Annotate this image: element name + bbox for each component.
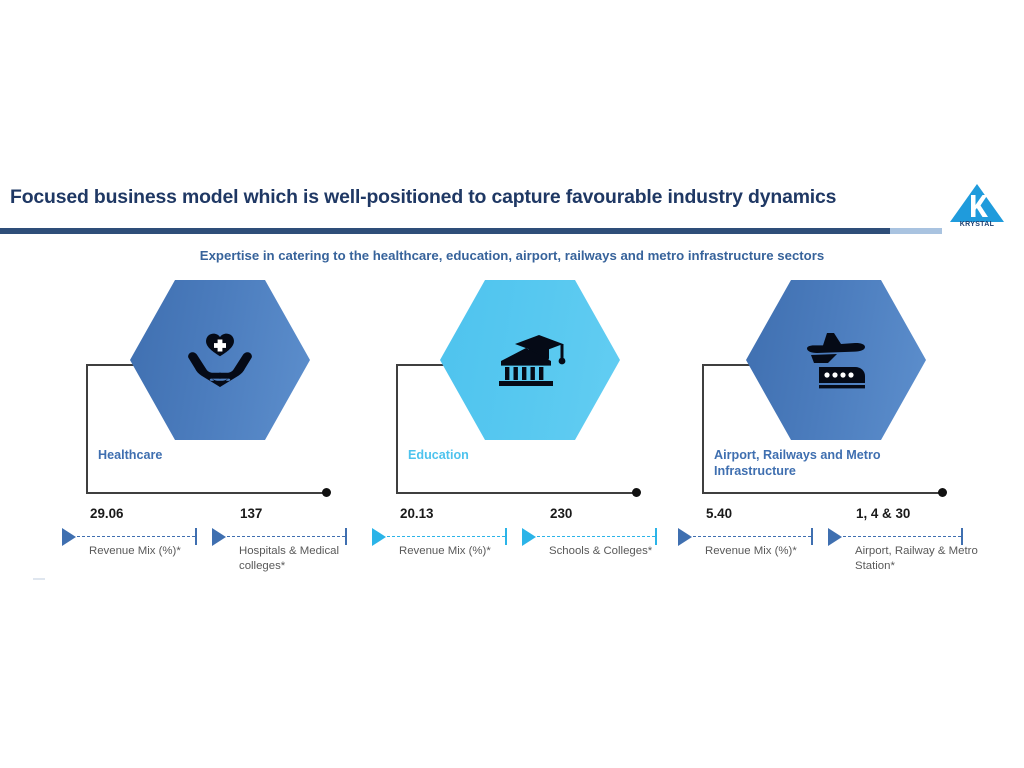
metric-end-tick	[195, 528, 197, 545]
slide-subtitle: Expertise in catering to the healthcare,…	[0, 248, 1024, 263]
metric-item: 137 Hospitals & Medical colleges*	[212, 506, 358, 596]
metric-item: 1, 4 & 30 Airport, Railway & Metro Stati…	[828, 506, 974, 596]
logo-triangle-icon	[949, 183, 1005, 223]
metric-value: 137	[240, 506, 262, 521]
metric-item: 5.40 Revenue Mix (%)*	[678, 506, 824, 596]
metric-arrow-icon	[828, 528, 842, 546]
metric-arrow-icon	[678, 528, 692, 546]
bracket-vertical-line	[86, 364, 88, 494]
sector-airport-railways-metro: Airport, Railways and Metro Infrastructu…	[668, 272, 988, 592]
metric-label: Revenue Mix (%)*	[705, 544, 833, 559]
metric-item: 20.13 Revenue Mix (%)*	[372, 506, 518, 596]
hands-holding-heart-icon	[182, 325, 258, 395]
metric-label: Revenue Mix (%)*	[89, 544, 217, 559]
metric-dashed-line	[537, 536, 655, 537]
metric-label: Revenue Mix (%)*	[399, 544, 527, 559]
logo-wordmark: KRYSTAL	[946, 221, 1008, 228]
bracket-bottom-line	[702, 492, 943, 494]
metric-arrow-icon	[522, 528, 536, 546]
sector-hexagon	[746, 280, 926, 440]
metric-dashed-line	[843, 536, 961, 537]
sector-metrics: 29.06 Revenue Mix (%)* 137 Hospitals & M…	[60, 506, 372, 596]
metric-arrow-icon	[62, 528, 76, 546]
bracket-end-dot	[322, 488, 331, 497]
metric-label: Hospitals & Medical colleges*	[239, 544, 367, 573]
bracket-vertical-line	[702, 364, 704, 494]
metric-arrow-icon	[372, 528, 386, 546]
sector-metrics: 20.13 Revenue Mix (%)* 230 Schools & Col…	[370, 506, 682, 596]
bracket-bottom-line	[396, 492, 637, 494]
metric-end-tick	[505, 528, 507, 545]
bracket-vertical-line	[396, 364, 398, 494]
metric-item: 29.06 Revenue Mix (%)*	[62, 506, 208, 596]
sector-education: Education 20.13 Revenue Mix (%)* 230 Sch…	[362, 272, 682, 592]
page-artifact-mark	[33, 578, 45, 580]
sector-label: Healthcare	[98, 448, 348, 464]
metric-value: 1, 4 & 30	[856, 506, 910, 521]
metric-end-tick	[655, 528, 657, 545]
bracket-end-dot	[632, 488, 641, 497]
university-graduation-cap-icon	[493, 327, 567, 393]
bracket-bottom-line	[86, 492, 327, 494]
sector-label: Airport, Railways and Metro Infrastructu…	[714, 448, 919, 479]
metric-arrow-icon	[212, 528, 226, 546]
metric-dashed-line	[77, 536, 195, 537]
metric-value: 230	[550, 506, 572, 521]
sector-label: Education	[408, 448, 658, 464]
metric-end-tick	[961, 528, 963, 545]
metric-item: 230 Schools & Colleges*	[522, 506, 668, 596]
krystal-logo: KRYSTAL	[946, 183, 1008, 235]
metric-dashed-line	[227, 536, 345, 537]
bracket-end-dot	[938, 488, 947, 497]
metric-value: 5.40	[706, 506, 732, 521]
metric-end-tick	[811, 528, 813, 545]
sector-healthcare: Healthcare 29.06 Revenue Mix (%)* 137 Ho…	[52, 272, 372, 592]
metric-dashed-line	[387, 536, 505, 537]
sector-metrics: 5.40 Revenue Mix (%)* 1, 4 & 30 Airport,…	[676, 506, 988, 596]
metric-end-tick	[345, 528, 347, 545]
metric-dashed-line	[693, 536, 811, 537]
airplane-metro-icon	[797, 327, 875, 393]
header-rule-accent	[890, 228, 942, 234]
header-rule	[0, 228, 890, 234]
sector-hexagon	[130, 280, 310, 440]
metric-value: 29.06	[90, 506, 124, 521]
slide-canvas: Focused business model which is well-pos…	[0, 0, 1024, 768]
sector-hexagon	[440, 280, 620, 440]
metric-label: Airport, Railway & Metro Station*	[855, 544, 983, 573]
metric-value: 20.13	[400, 506, 434, 521]
page-title: Focused business model which is well-pos…	[10, 186, 940, 209]
metric-label: Schools & Colleges*	[549, 544, 677, 559]
